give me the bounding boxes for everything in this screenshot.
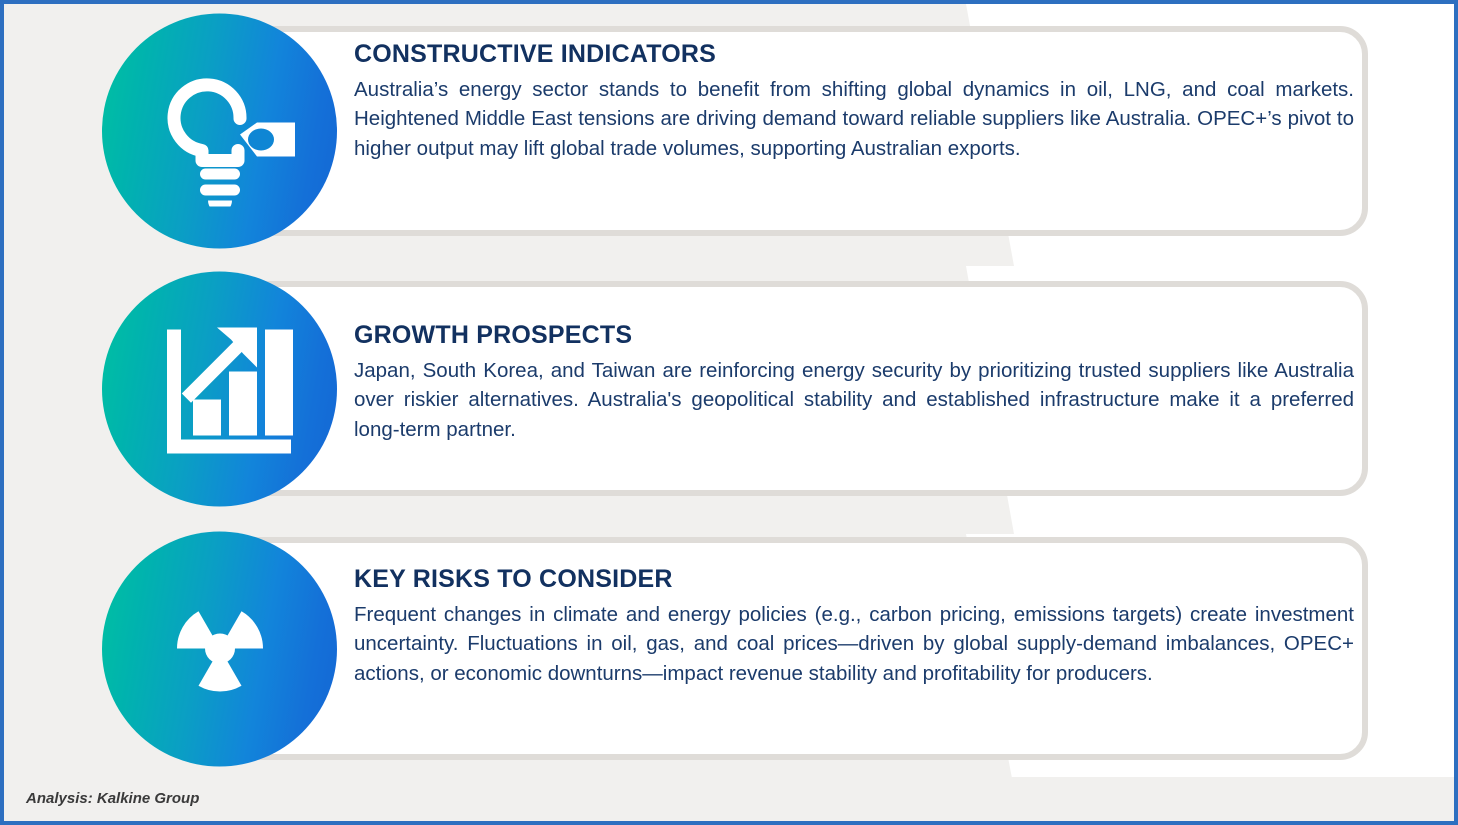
card-body: Frequent changes in climate and energy p… <box>354 600 1354 689</box>
radiation-hazard-icon <box>102 531 337 766</box>
card-title: KEY RISKS TO CONSIDER <box>354 565 1354 594</box>
card-text-block: CONSTRUCTIVE INDICATORS Australia’s ener… <box>354 40 1354 163</box>
bar-chart-growth-icon <box>102 271 337 506</box>
card-text-block: GROWTH PROSPECTS Japan, South Korea, and… <box>354 321 1354 444</box>
card-body: Japan, South Korea, and Taiwan are reinf… <box>354 356 1354 445</box>
card-title: GROWTH PROSPECTS <box>354 321 1354 350</box>
footer-strip <box>4 777 1454 821</box>
card-growth-prospects[interactable]: GROWTH PROSPECTS Japan, South Korea, and… <box>4 281 1454 496</box>
analysis-credit: Analysis: Kalkine Group <box>26 790 199 807</box>
card-key-risks[interactable]: KEY RISKS TO CONSIDER Frequent changes i… <box>4 537 1454 760</box>
card-constructive-indicators[interactable]: CONSTRUCTIVE INDICATORS Australia’s ener… <box>4 26 1454 236</box>
card-text-block: KEY RISKS TO CONSIDER Frequent changes i… <box>354 565 1354 688</box>
card-list: CONSTRUCTIVE INDICATORS Australia’s ener… <box>4 4 1454 789</box>
card-title: CONSTRUCTIVE INDICATORS <box>354 40 1354 69</box>
card-body: Australia’s energy sector stands to bene… <box>354 75 1354 164</box>
lightbulb-icon <box>102 14 337 249</box>
infographic-page: CONSTRUCTIVE INDICATORS Australia’s ener… <box>0 0 1458 825</box>
